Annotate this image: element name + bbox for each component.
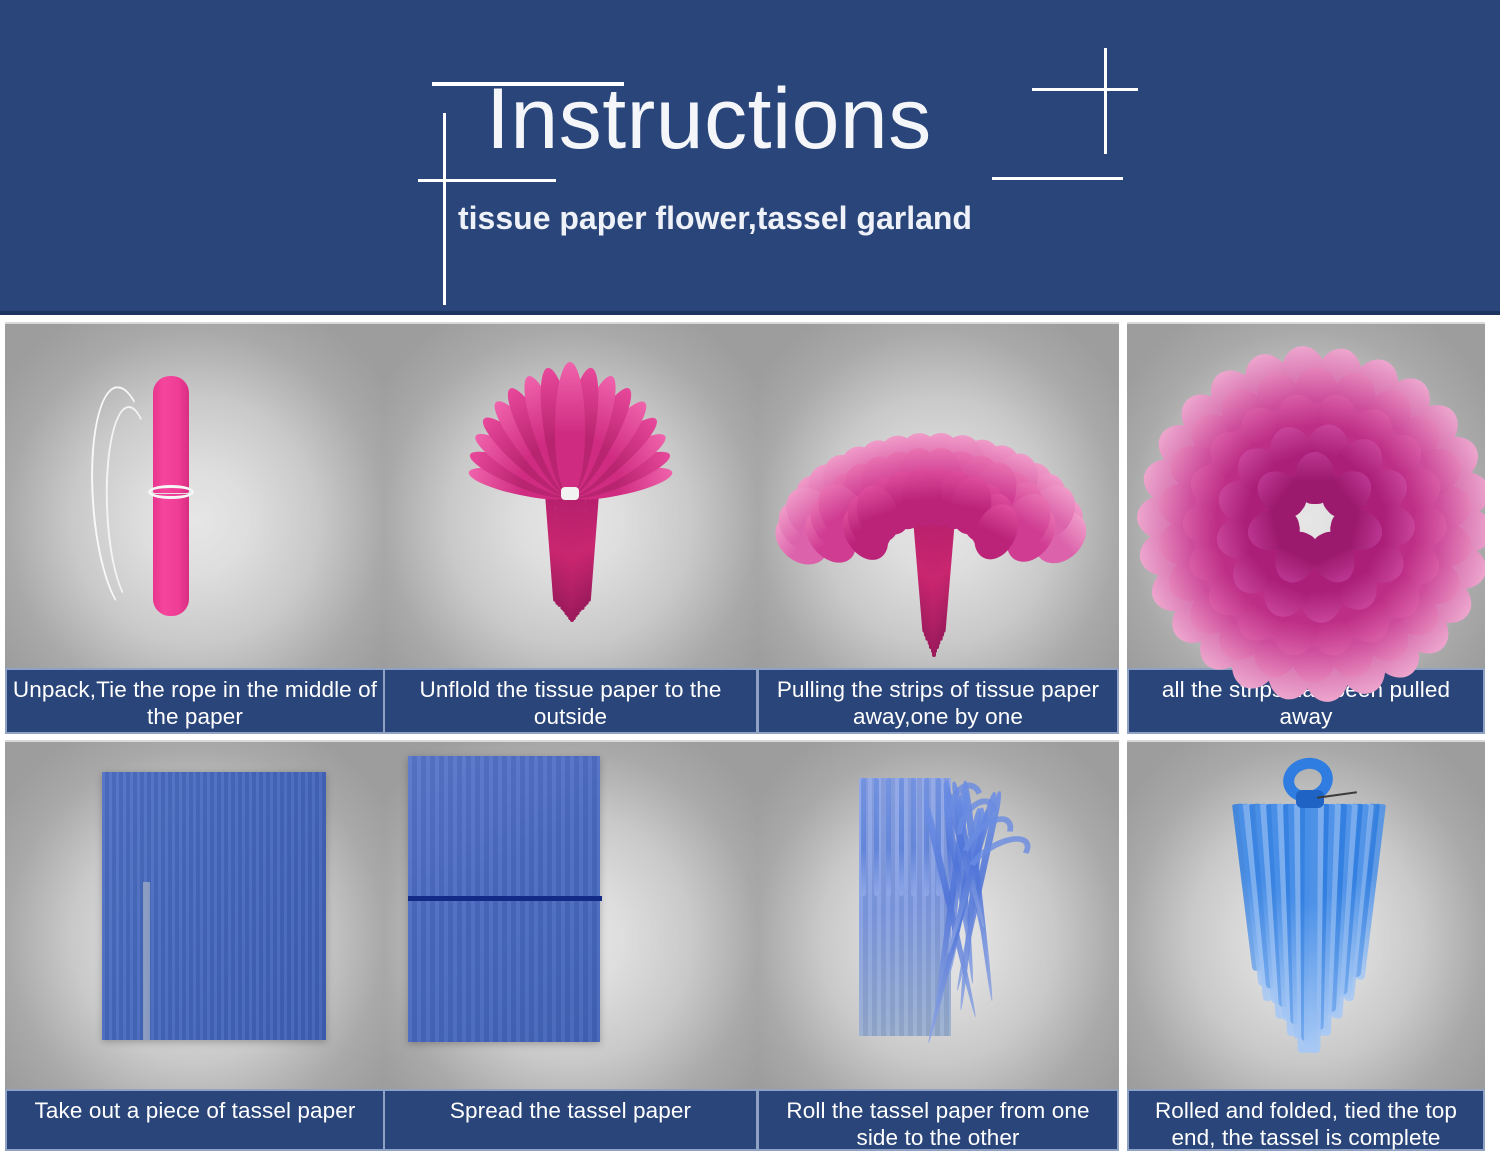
step-caption-7: Roll the tassel paper from one side to t… (757, 1089, 1119, 1151)
tassel-paper-sheet (102, 772, 326, 1040)
decorative-left-vertical-rule (443, 113, 446, 305)
tissue-strip-upper-half (153, 376, 189, 493)
decorative-right-horizontal-rule (1032, 88, 1138, 91)
tassel-fringe-strand (1304, 804, 1318, 1050)
step-panel-8: Rolled and folded, tied the top end, the… (1127, 740, 1485, 1151)
page-subtitle: tissue paper flower,tassel garland (458, 200, 972, 237)
paper-fringe-strip (861, 778, 866, 896)
step-panel-7: Roll the tassel paper from one side to t… (757, 740, 1119, 1151)
page-title: Instructions (486, 76, 932, 162)
paper-fringe-strip (899, 778, 904, 896)
header-banner: Instructions tissue paper flower,tassel … (0, 0, 1500, 315)
tissue-petal (555, 362, 585, 494)
header-bottom-edge (0, 311, 1500, 315)
step-panel-5: Take out a piece of tassel paper (5, 740, 385, 1151)
decorative-right-lower-horizontal-rule (992, 177, 1123, 180)
step-caption-6: Spread the tassel paper (383, 1089, 758, 1151)
step-caption-1: Unpack,Tie the rope in the middle of the… (5, 668, 385, 734)
step-caption-8: Rolled and folded, tied the top end, the… (1127, 1089, 1485, 1151)
paper-fringe-strip (886, 778, 891, 896)
tassel-knot (1296, 790, 1324, 808)
paper-fringe-strip (911, 778, 916, 896)
step-panel-4: all the strips has been pulled away (1127, 322, 1485, 734)
paper-fringe-strip (874, 778, 879, 896)
paper-fold-line-horizontal (408, 896, 602, 901)
step-panel-2: Unflold the tissue paper to the outside (383, 322, 758, 734)
string-tie (561, 487, 579, 500)
paper-crease-vertical (143, 882, 150, 1040)
step-caption-3: Pulling the strips of tissue paper away,… (757, 668, 1119, 734)
decorative-middle-horizontal-rule (418, 179, 556, 182)
step-panel-3: Pulling the strips of tissue paper away,… (757, 322, 1119, 734)
paper-fringe-strip (924, 778, 929, 896)
decorative-right-vertical-rule (1104, 48, 1107, 154)
step-caption-2: Unflold the tissue paper to the outside (383, 668, 758, 734)
step-panel-1: Unpack,Tie the rope in the middle of the… (5, 322, 385, 734)
step-caption-5: Take out a piece of tassel paper (5, 1089, 385, 1151)
step-panel-6: Spread the tassel paper (383, 740, 758, 1151)
